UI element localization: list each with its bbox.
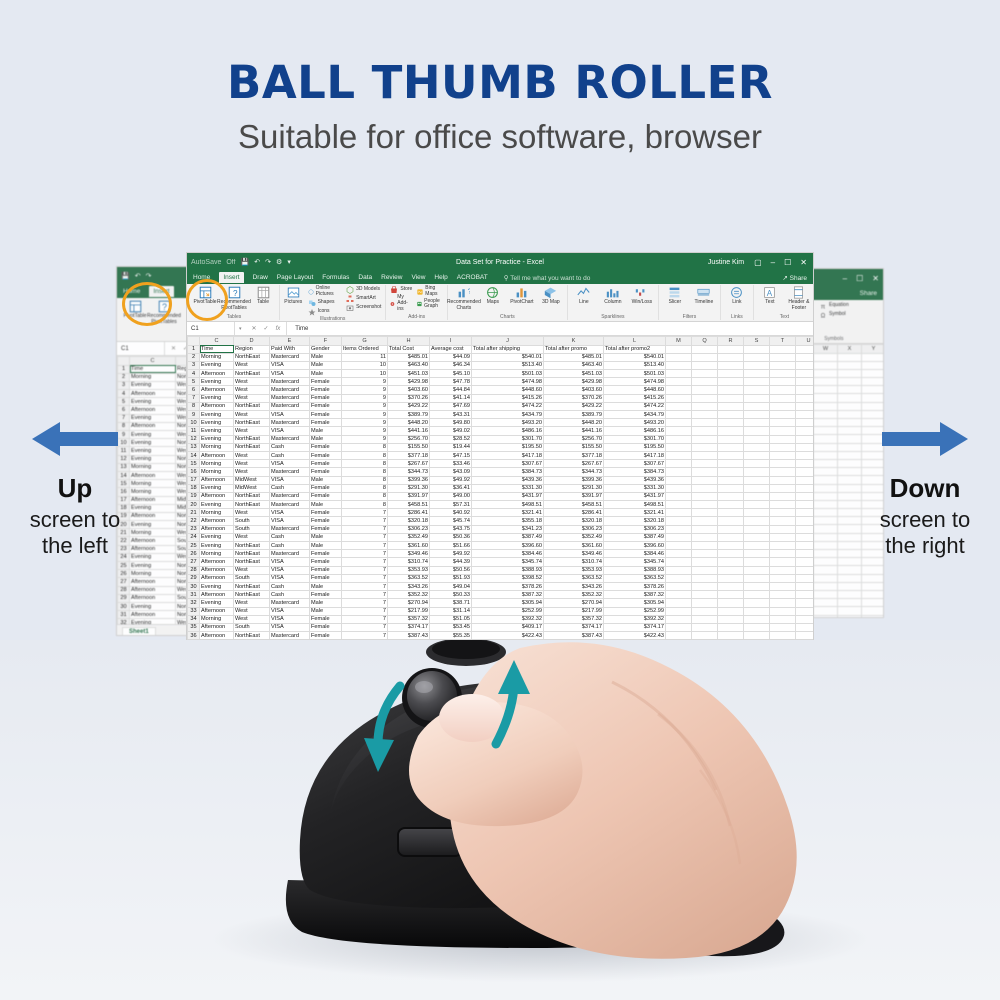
cell[interactable]: Morning [200, 460, 234, 468]
table-row[interactable]: 19AfternoonNorthEastMastercardFemale8$39… [188, 492, 814, 500]
new-sheet-icon[interactable]: ⊕ [260, 643, 265, 650]
cell[interactable] [744, 615, 770, 623]
row-header[interactable]: 31 [188, 591, 200, 599]
cell[interactable]: Afternoon [200, 402, 234, 410]
cell[interactable]: $486.16 [472, 427, 544, 435]
cell[interactable] [744, 451, 770, 459]
cell[interactable] [718, 566, 744, 574]
cell[interactable]: Afternoon [200, 370, 234, 378]
ribbon-button-smartart[interactable]: SmartArt [345, 295, 382, 303]
ribbon-button-header-footer[interactable]: Header & Footer [786, 286, 812, 312]
cell[interactable]: Cash [270, 533, 310, 541]
cell[interactable]: $485.01 [544, 353, 604, 361]
cell[interactable] [692, 566, 718, 574]
cell[interactable] [718, 411, 744, 419]
cell[interactable] [796, 525, 814, 533]
cell[interactable]: $498.51 [472, 501, 544, 509]
row-header[interactable]: 21 [188, 509, 200, 517]
cell[interactable] [796, 566, 814, 574]
cell[interactable]: NorthEast [234, 402, 270, 410]
ribbon-back-right[interactable]: π Equation Ω Symbol Symbols [813, 300, 883, 344]
cell[interactable]: $493.20 [472, 419, 544, 427]
cell[interactable]: 8 [342, 451, 388, 459]
cell[interactable]: Evening [200, 599, 234, 607]
normal-view-icon[interactable]: ▦ [701, 655, 707, 656]
cell[interactable]: $349.46 [544, 550, 604, 558]
row-header[interactable]: 2 [188, 353, 200, 361]
cell[interactable] [666, 345, 692, 353]
cell[interactable]: Female [310, 451, 342, 459]
cell[interactable]: $353.93 [544, 566, 604, 574]
cell[interactable]: $270.94 [388, 599, 430, 607]
cell[interactable] [718, 574, 744, 582]
cell[interactable] [744, 386, 770, 394]
cell[interactable]: Male [310, 582, 342, 590]
table-row[interactable] [814, 615, 884, 618]
table-row[interactable]: 28AfternoonWestVISAFemale7$353.93$50.56$… [188, 566, 814, 574]
cell[interactable]: $441.16 [544, 427, 604, 435]
row-header[interactable]: 30 [188, 582, 200, 590]
cell[interactable] [666, 460, 692, 468]
table-row[interactable]: 1TimeRegionPaid WithGenderItems OrderedT… [188, 345, 814, 353]
cell[interactable] [718, 591, 744, 599]
row-header[interactable]: 2 [118, 373, 130, 381]
cell[interactable]: $392.32 [604, 615, 666, 623]
cell[interactable]: Afternoon [130, 578, 176, 586]
cell[interactable] [692, 484, 718, 492]
cell[interactable] [666, 394, 692, 402]
cell[interactable]: Evening [200, 427, 234, 435]
cell[interactable] [744, 632, 770, 639]
cell[interactable]: Total after promo [544, 345, 604, 353]
cell[interactable] [796, 402, 814, 410]
cell[interactable] [718, 525, 744, 533]
cell[interactable] [814, 492, 838, 500]
table-row[interactable] [814, 353, 884, 361]
cell[interactable] [692, 411, 718, 419]
cell[interactable] [744, 607, 770, 615]
table-row[interactable]: 3EveningWestVISAMale10$463.40$46.34$513.… [188, 361, 814, 369]
cell[interactable] [666, 623, 692, 631]
cell[interactable]: $49.02 [430, 427, 472, 435]
cell[interactable] [692, 542, 718, 550]
cell[interactable]: VISA [270, 427, 310, 435]
cell[interactable] [770, 476, 796, 484]
cell[interactable]: Region [234, 345, 270, 353]
cell[interactable] [770, 542, 796, 550]
cell[interactable] [814, 525, 838, 533]
name-box-back-left[interactable]: C1 [117, 342, 165, 355]
cell[interactable] [796, 427, 814, 435]
cell[interactable] [796, 623, 814, 631]
cell[interactable] [796, 435, 814, 443]
cell[interactable]: West [234, 599, 270, 607]
column-header-W[interactable]: W [814, 345, 838, 354]
row-header[interactable]: 27 [118, 578, 130, 586]
cell[interactable]: Morning [200, 615, 234, 623]
cell[interactable] [770, 623, 796, 631]
cell[interactable] [814, 451, 838, 459]
cell[interactable]: Afternoon [200, 517, 234, 525]
dpi-button-1[interactable] [398, 828, 462, 856]
cell[interactable] [814, 410, 838, 418]
cell[interactable] [796, 542, 814, 550]
cell[interactable]: VISA [270, 574, 310, 582]
cell[interactable] [692, 574, 718, 582]
cell[interactable]: $305.94 [604, 599, 666, 607]
cell[interactable]: $50.36 [430, 533, 472, 541]
cell[interactable]: $363.52 [604, 574, 666, 582]
cell[interactable]: $352.49 [544, 533, 604, 541]
cell[interactable]: $439.36 [472, 476, 544, 484]
row-header[interactable]: 4 [118, 390, 130, 398]
ribbon-button-my-addins[interactable]: My Add-ins [389, 295, 413, 312]
cell[interactable]: 7 [342, 566, 388, 574]
cell[interactable]: Total after promo2 [604, 345, 666, 353]
table-row[interactable]: 15MorningWestVISAFemale8$267.67$33.46$30… [188, 460, 814, 468]
cell[interactable]: 7 [342, 558, 388, 566]
cell[interactable]: Afternoon [200, 386, 234, 394]
row-header[interactable]: 5 [188, 378, 200, 386]
cell[interactable]: Mastercard [270, 378, 310, 386]
tab-help[interactable]: Help [434, 274, 447, 281]
cell[interactable]: $344.73 [388, 468, 430, 476]
cell[interactable] [744, 542, 770, 550]
ribbon-pivottable-back-left[interactable]: PivotTable [122, 300, 148, 320]
cell[interactable]: $51.93 [430, 574, 472, 582]
cell[interactable]: $341.23 [472, 525, 544, 533]
redo-icon[interactable]: ↷ [146, 272, 152, 280]
cell[interactable] [770, 615, 796, 623]
cell[interactable]: Morning [130, 373, 176, 381]
cell[interactable] [770, 582, 796, 590]
tab-formulas[interactable]: Formulas [322, 274, 349, 281]
cell[interactable]: $331.30 [472, 484, 544, 492]
table-row[interactable]: 26MorningNorthEastMastercardFemale7$349.… [188, 550, 814, 558]
table-row[interactable]: 8AfternoonNorthEastMastercardFemale9$429… [188, 402, 814, 410]
cell[interactable] [770, 378, 796, 386]
table-row[interactable]: 6AfternoonWestMastercardFemale9$403.60$4… [188, 386, 814, 394]
column-header-T[interactable]: T [770, 337, 796, 346]
cell[interactable] [814, 484, 838, 492]
cell[interactable]: $485.01 [388, 353, 430, 361]
cell[interactable]: 7 [342, 542, 388, 550]
cell[interactable]: 7 [342, 550, 388, 558]
cell[interactable] [718, 370, 744, 378]
cell[interactable]: $387.32 [604, 591, 666, 599]
cell[interactable] [718, 427, 744, 435]
cell[interactable]: $389.79 [544, 411, 604, 419]
cell[interactable]: $448.60 [604, 386, 666, 394]
cell[interactable]: $49.00 [430, 492, 472, 500]
column-header-R[interactable]: R [718, 337, 744, 346]
cell[interactable]: Female [310, 460, 342, 468]
cell[interactable]: $50.56 [430, 566, 472, 574]
cell[interactable]: Morning [200, 550, 234, 558]
cell[interactable]: Mastercard [270, 386, 310, 394]
cell[interactable] [744, 484, 770, 492]
cell[interactable] [666, 501, 692, 509]
cell[interactable]: $36.41 [430, 484, 472, 492]
cell[interactable]: West [234, 533, 270, 541]
cell[interactable]: West [234, 460, 270, 468]
cell[interactable]: $31.14 [430, 607, 472, 615]
column-header-C[interactable]: C [200, 337, 234, 346]
cell[interactable]: Paid With [270, 345, 310, 353]
cell[interactable]: VISA [270, 361, 310, 369]
cell[interactable]: South [234, 525, 270, 533]
ribbon-button-sparkline-column[interactable]: Column [600, 286, 626, 306]
zoom-level[interactable]: 100% [795, 656, 808, 657]
cell[interactable] [718, 476, 744, 484]
cell[interactable]: VISA [270, 370, 310, 378]
ribbon-button-link[interactable]: Link [724, 286, 750, 306]
cell[interactable]: Mastercard [270, 492, 310, 500]
cell[interactable] [862, 394, 884, 402]
cell[interactable] [666, 525, 692, 533]
cell[interactable]: Evening [130, 381, 176, 389]
cell[interactable] [744, 435, 770, 443]
cell[interactable]: VISA [270, 558, 310, 566]
cell[interactable] [692, 468, 718, 476]
sheet-nav-prev-icon[interactable]: ◀ [202, 643, 207, 650]
cell[interactable]: $486.16 [604, 427, 666, 435]
cell[interactable]: NorthEast [234, 632, 270, 639]
cell[interactable]: Female [310, 402, 342, 410]
cell[interactable]: MidWest [234, 484, 270, 492]
cell[interactable]: $310.74 [388, 558, 430, 566]
cell[interactable]: $49.04 [430, 582, 472, 590]
thumb-trackball[interactable] [407, 671, 457, 721]
cell[interactable]: $19.44 [430, 443, 472, 451]
row-header[interactable]: 14 [188, 451, 200, 459]
cell[interactable] [666, 378, 692, 386]
cell[interactable]: Afternoon [200, 492, 234, 500]
cell[interactable] [796, 468, 814, 476]
ribbon-button-recommended-pivottables[interactable]: ? Recommended PivotTables [221, 286, 247, 312]
cell[interactable] [666, 599, 692, 607]
cell[interactable]: $307.67 [604, 460, 666, 468]
cell[interactable]: Afternoon [130, 406, 176, 414]
cell[interactable] [838, 361, 862, 369]
cell[interactable] [744, 443, 770, 451]
row-header[interactable]: 15 [188, 460, 200, 468]
ribbon-button-pivottable[interactable]: PivotTable [192, 286, 218, 306]
cell[interactable] [666, 632, 692, 639]
table-row[interactable]: 36AfternoonNorthEastMastercardFemale7$38… [188, 632, 814, 639]
cell[interactable]: Mastercard [270, 550, 310, 558]
ribbon-button-bing-maps[interactable]: Bing Maps [416, 286, 444, 298]
cell[interactable] [718, 394, 744, 402]
table-row[interactable] [814, 590, 884, 598]
cell[interactable]: NorthEast [234, 582, 270, 590]
cell[interactable]: Evening [200, 582, 234, 590]
cell[interactable]: 8 [342, 468, 388, 476]
tab-insert-back-left[interactable]: Insert [149, 286, 173, 297]
cell[interactable] [770, 361, 796, 369]
cell[interactable]: $343.26 [388, 582, 430, 590]
cell[interactable] [814, 378, 838, 386]
ribbon-recommended-pivottables-back-left[interactable]: ? Recommended PivotTables [151, 300, 177, 326]
cell[interactable]: $415.26 [472, 394, 544, 402]
cell[interactable]: Female [310, 591, 342, 599]
cell[interactable]: Male [310, 607, 342, 615]
cell[interactable] [744, 525, 770, 533]
table-row[interactable]: 27AfternoonNorthEastVISAFemale7$310.74$4… [188, 558, 814, 566]
cell[interactable]: Morning [200, 509, 234, 517]
cell[interactable]: $493.20 [604, 419, 666, 427]
cell[interactable]: $195.50 [604, 443, 666, 451]
column-header-E[interactable]: E [270, 337, 310, 346]
cell[interactable] [666, 550, 692, 558]
cell[interactable]: $53.45 [430, 623, 472, 631]
cell[interactable] [796, 550, 814, 558]
cell[interactable]: Evening [130, 619, 176, 624]
cell[interactable]: South [234, 517, 270, 525]
cell[interactable] [770, 386, 796, 394]
cell[interactable] [770, 591, 796, 599]
cell[interactable]: $155.50 [544, 443, 604, 451]
cell[interactable]: $28.52 [430, 435, 472, 443]
cell[interactable]: Evening [130, 602, 176, 610]
cell[interactable] [770, 566, 796, 574]
row-header[interactable]: 9 [188, 411, 200, 419]
cell[interactable]: Female [310, 632, 342, 639]
cell[interactable]: Evening [200, 361, 234, 369]
row-header[interactable]: 10 [188, 419, 200, 427]
cell[interactable] [744, 402, 770, 410]
ribbon-button-icons[interactable]: Icons [307, 308, 343, 316]
column-header-M[interactable]: M [666, 337, 692, 346]
row-header[interactable]: 6 [188, 386, 200, 394]
cell[interactable]: $377.18 [544, 451, 604, 459]
cell[interactable]: $49.80 [430, 419, 472, 427]
cell[interactable] [796, 345, 814, 353]
cell[interactable] [718, 632, 744, 639]
name-box[interactable]: C1 [187, 322, 235, 335]
cell[interactable] [814, 476, 838, 484]
cell[interactable] [770, 574, 796, 582]
cell[interactable]: Male [310, 353, 342, 361]
cell[interactable]: NorthEast [234, 443, 270, 451]
column-header-D[interactable]: D [234, 337, 270, 346]
cell[interactable]: $267.67 [388, 460, 430, 468]
cell[interactable]: Total Cost [388, 345, 430, 353]
cell[interactable]: $388.93 [604, 566, 666, 574]
cell[interactable]: $49.92 [430, 550, 472, 558]
cell[interactable] [666, 533, 692, 541]
cell[interactable]: $387.32 [472, 591, 544, 599]
cell[interactable] [692, 419, 718, 427]
enter-icon[interactable]: ✓ [264, 325, 269, 332]
cell[interactable] [666, 476, 692, 484]
cell[interactable]: Evening [130, 562, 176, 570]
cell[interactable] [838, 402, 862, 410]
cell[interactable]: Female [310, 411, 342, 419]
cell[interactable] [692, 460, 718, 468]
cell[interactable]: $540.01 [472, 353, 544, 361]
cell[interactable]: $377.18 [388, 451, 430, 459]
insert-function-icon[interactable]: fx [276, 326, 281, 332]
cell[interactable] [744, 517, 770, 525]
cell[interactable] [770, 599, 796, 607]
table-row[interactable] [814, 394, 884, 402]
cell[interactable] [796, 484, 814, 492]
close-icon[interactable]: ✕ [800, 258, 807, 267]
cell[interactable]: Evening [200, 435, 234, 443]
cell[interactable]: $310.74 [544, 558, 604, 566]
cell[interactable]: $415.26 [604, 394, 666, 402]
select-all-corner[interactable] [188, 337, 200, 346]
cell[interactable]: $463.40 [544, 361, 604, 369]
cell[interactable] [744, 427, 770, 435]
cell[interactable] [796, 353, 814, 361]
cell[interactable]: $429.22 [544, 402, 604, 410]
cell[interactable] [692, 451, 718, 459]
cell[interactable]: 8 [342, 501, 388, 509]
cell[interactable] [718, 509, 744, 517]
cell[interactable] [666, 566, 692, 574]
cell[interactable]: $398.52 [472, 574, 544, 582]
tab-data[interactable]: Data [358, 274, 372, 281]
row-header[interactable]: 19 [188, 492, 200, 500]
cell[interactable] [744, 361, 770, 369]
cell[interactable] [744, 599, 770, 607]
cell[interactable]: Mastercard [270, 435, 310, 443]
cell[interactable] [718, 484, 744, 492]
cell[interactable] [814, 419, 838, 427]
cell[interactable]: Female [310, 386, 342, 394]
row-header[interactable]: 26 [118, 570, 130, 578]
ribbon-button-people-graph[interactable]: People Graph [416, 299, 444, 311]
cell[interactable]: West [234, 378, 270, 386]
cell[interactable] [692, 509, 718, 517]
row-header[interactable]: 25 [118, 562, 130, 570]
cell[interactable]: $345.74 [604, 558, 666, 566]
cell[interactable] [770, 517, 796, 525]
cell[interactable]: $57.31 [430, 501, 472, 509]
cell[interactable]: $47.15 [430, 451, 472, 459]
ribbon-button-table[interactable]: Table [250, 286, 276, 306]
table-row[interactable]: 33AfternoonWestVISAMale7$217.99$31.14$25… [188, 607, 814, 615]
cell[interactable]: $451.03 [544, 370, 604, 378]
cell[interactable] [796, 517, 814, 525]
cell[interactable]: Afternoon [200, 591, 234, 599]
cell[interactable]: $43.31 [430, 411, 472, 419]
cell[interactable] [838, 566, 862, 574]
cell[interactable] [718, 623, 744, 631]
cell[interactable] [718, 582, 744, 590]
cell[interactable] [692, 615, 718, 623]
cell[interactable]: $388.93 [472, 566, 544, 574]
cell[interactable]: $331.30 [604, 484, 666, 492]
cancel-icon[interactable]: ✕ [171, 345, 176, 352]
cell[interactable]: $399.36 [544, 476, 604, 484]
cell[interactable]: 9 [342, 378, 388, 386]
cell[interactable]: $49.92 [430, 476, 472, 484]
cell[interactable]: $320.18 [388, 517, 430, 525]
cell[interactable] [796, 451, 814, 459]
cell[interactable] [862, 353, 884, 361]
cell[interactable] [796, 615, 814, 623]
cell[interactable]: $429.22 [388, 402, 430, 410]
cell[interactable] [666, 574, 692, 582]
cell[interactable]: $352.32 [544, 591, 604, 599]
cell[interactable]: $417.18 [604, 451, 666, 459]
page-break-view-icon[interactable]: ◫ [721, 655, 727, 656]
cell[interactable] [770, 468, 796, 476]
cell[interactable] [770, 484, 796, 492]
